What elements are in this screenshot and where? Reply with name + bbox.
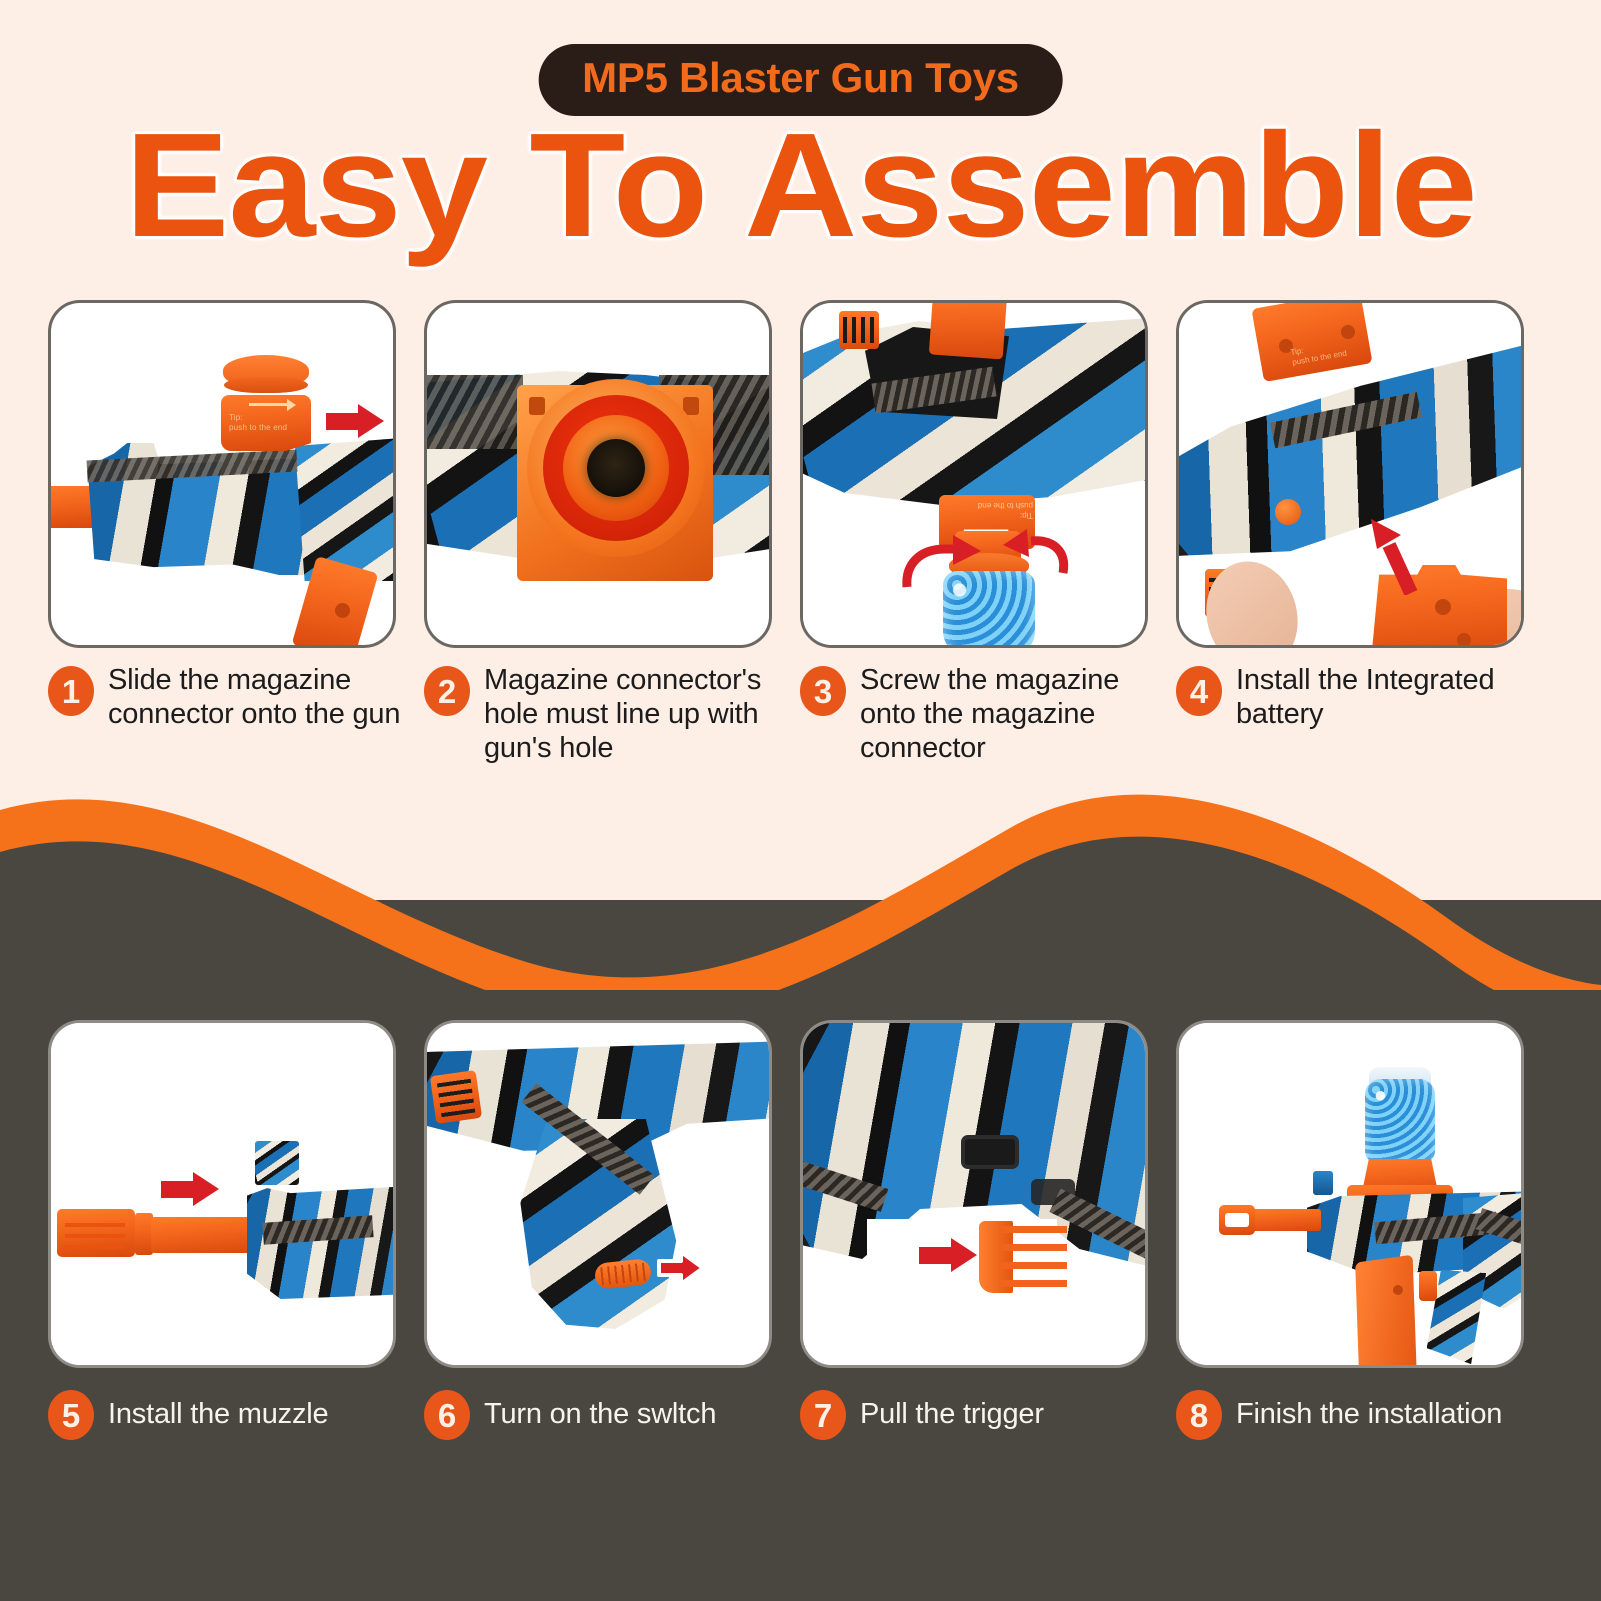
switch-direction-arrow-icon [657,1249,707,1289]
connector-mount-hole-left-icon [529,397,545,415]
connector-engraved-arrow-head-icon [287,399,296,411]
grip-screw-icon [335,603,350,618]
magazine-connector-slide-photo: Tip:push to the end [48,300,396,648]
step-7-number-badge: 7 [800,1390,846,1440]
connector-bore-hole-icon [587,439,645,497]
connector-tip-text-inverted: Tip:push to the end [949,499,1033,520]
step-1-caption: 1 Slide the magazine connector onto the … [48,664,424,732]
trigger-arrow-head-icon [951,1238,977,1272]
foregrip-slots-icon [843,317,875,343]
connector-engraved-arrow-icon [249,403,291,406]
finished-blaster-photo [1176,1020,1524,1368]
step-3-text: Screw the magazine onto the magazine con… [860,664,1162,766]
step-4-text: Install the Integrated battery [1236,664,1538,732]
magazine-connector-collar [224,377,308,393]
step-7-caption: 7 Pull the trigger [800,1390,1176,1440]
magazine-catch-icon [1393,1285,1403,1295]
step-1: Tip:push to the end 1 Slide the magazine… [48,300,424,766]
step-4-number-badge: 4 [1176,666,1222,716]
rotate-arrows-icon [895,525,1075,605]
step-8-caption: 8 Finish the installation [1176,1390,1552,1440]
step-6-caption: 6 Turn on the swltch [424,1390,800,1440]
step-7: 7 Pull the trigger [800,1020,1176,1440]
install-muzzle-photo [48,1020,396,1368]
direction-arrow-shaft-icon [326,413,360,430]
receiver-port-icon [961,1135,1019,1169]
step-5-number-badge: 5 [48,1390,94,1440]
steps-row-top: Tip:push to the end 1 Slide the magazine… [48,300,1553,766]
selector-button [1275,499,1301,525]
step-1-number-badge: 1 [48,666,94,716]
step-3-number-badge: 3 [800,666,846,716]
hand-left [1195,552,1309,648]
step-6-text: Turn on the swltch [484,1398,716,1432]
screw-magazine-photo: Tip:push to the end [800,300,1148,648]
step-1-text: Slide the magazine connector onto the gu… [108,664,410,732]
step-5: 5 Install the muzzle [48,1020,424,1440]
trigger-serrations-icon [999,1225,1067,1287]
rear-foregrip-slots-icon [437,1077,476,1117]
step-4: Tip:push to the end [1176,300,1552,766]
trigger-arrow-shaft-icon [919,1247,953,1264]
step-2: 2 Magazine connector's hole must line up… [424,300,800,766]
gun-rear-block [295,431,396,581]
step-2-number-badge: 2 [424,666,470,716]
step-6: 6 Turn on the swltch [424,1020,800,1440]
step-8: 8 Finish the installation [1176,1020,1552,1440]
connector-hole-alignment-photo [424,300,772,648]
step-3: Tip:push to the end 3 Screw the magazine… [800,300,1176,766]
charging-handle [929,300,1007,360]
step-3-caption: 3 Screw the magazine onto the magazine c… [800,664,1176,766]
connector-tip-text: Tip:push to the end [229,413,307,434]
gun-body-tilted [1176,341,1524,581]
direction-arrow-head-icon [358,404,384,438]
assembled-barrel [1245,1209,1321,1231]
step-2-text: Magazine connector's hole must line up w… [484,664,786,766]
steps-row-bottom: 5 Install the muzzle [48,1020,1553,1440]
step-7-text: Pull the trigger [860,1398,1044,1432]
assembled-trigger [1419,1271,1437,1301]
install-arrow-shaft-icon [161,1181,195,1198]
step-8-text: Finish the installation [1236,1398,1502,1432]
muzzle-barrel [151,1217,263,1253]
step-4-caption: 4 Install the Integrated battery [1176,664,1552,732]
headline-text: Easy To Assemble [125,108,1477,263]
insert-direction-arrow-icon [1365,519,1435,595]
assembled-front-sight [1313,1171,1333,1195]
battery-screw-hole-icon [1435,599,1451,615]
gun-rail-hatching-left [427,375,523,449]
install-battery-photo: Tip:push to the end [1176,300,1524,648]
step-8-number-badge: 8 [1176,1390,1222,1440]
pull-trigger-photo [800,1020,1148,1368]
install-arrow-head-icon [193,1172,219,1206]
step-2-caption: 2 Magazine connector's hole must line up… [424,664,800,766]
assembled-muzzle-slot-icon [1225,1213,1249,1227]
gun-front-sight [255,1141,299,1185]
turn-on-switch-photo [424,1020,772,1368]
step-6-number-badge: 6 [424,1390,470,1440]
step-5-text: Install the muzzle [108,1398,328,1432]
title-badge-label: MP5 Blaster Gun Toys [582,54,1019,101]
gel-ball-hopper [1365,1079,1435,1163]
page-title: Easy To Assemble [0,108,1601,263]
assembled-magazine [1355,1255,1417,1368]
step-5-caption: 5 Install the muzzle [48,1390,424,1440]
battery-contact-icon [1457,633,1471,647]
muzzle-vent-slots-icon [65,1217,125,1249]
